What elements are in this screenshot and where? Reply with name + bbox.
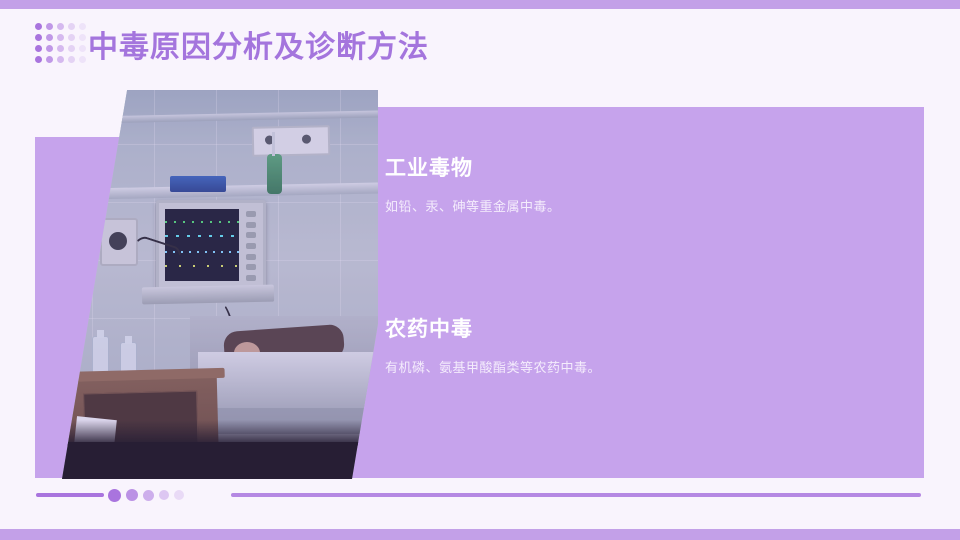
top-accent-stripe: [0, 0, 960, 9]
page-title: 中毒原因分析及诊断方法: [88, 28, 429, 68]
block-description: 有机磷、氨基甲酸酯类等农药中毒。: [385, 358, 601, 378]
block-title: 农药中毒: [385, 316, 601, 344]
pager-dot-4[interactable]: [159, 490, 169, 500]
pager-dots[interactable]: [108, 486, 226, 504]
pager-dot-2[interactable]: [126, 489, 138, 501]
pager-dot-5[interactable]: [174, 490, 184, 500]
slide-canvas: 中毒原因分析及诊断方法: [0, 0, 960, 540]
pager-line-right: [231, 493, 921, 497]
bottom-accent-stripe: [0, 529, 960, 540]
dot-grid-icon: [33, 21, 88, 65]
content-block-2: 农药中毒 有机磷、氨基甲酸酯类等农药中毒。: [385, 316, 601, 378]
block-description: 如铅、汞、砷等重金属中毒。: [385, 197, 561, 217]
pager-dot-1[interactable]: [108, 489, 121, 502]
pager-line-left: [36, 493, 104, 497]
pager-dot-3[interactable]: [143, 490, 154, 501]
content-block-1: 工业毒物 如铅、汞、砷等重金属中毒。: [385, 155, 561, 217]
footer-pager: [0, 486, 960, 504]
slide-header: 中毒原因分析及诊断方法: [0, 9, 960, 85]
block-title: 工业毒物: [385, 155, 561, 183]
